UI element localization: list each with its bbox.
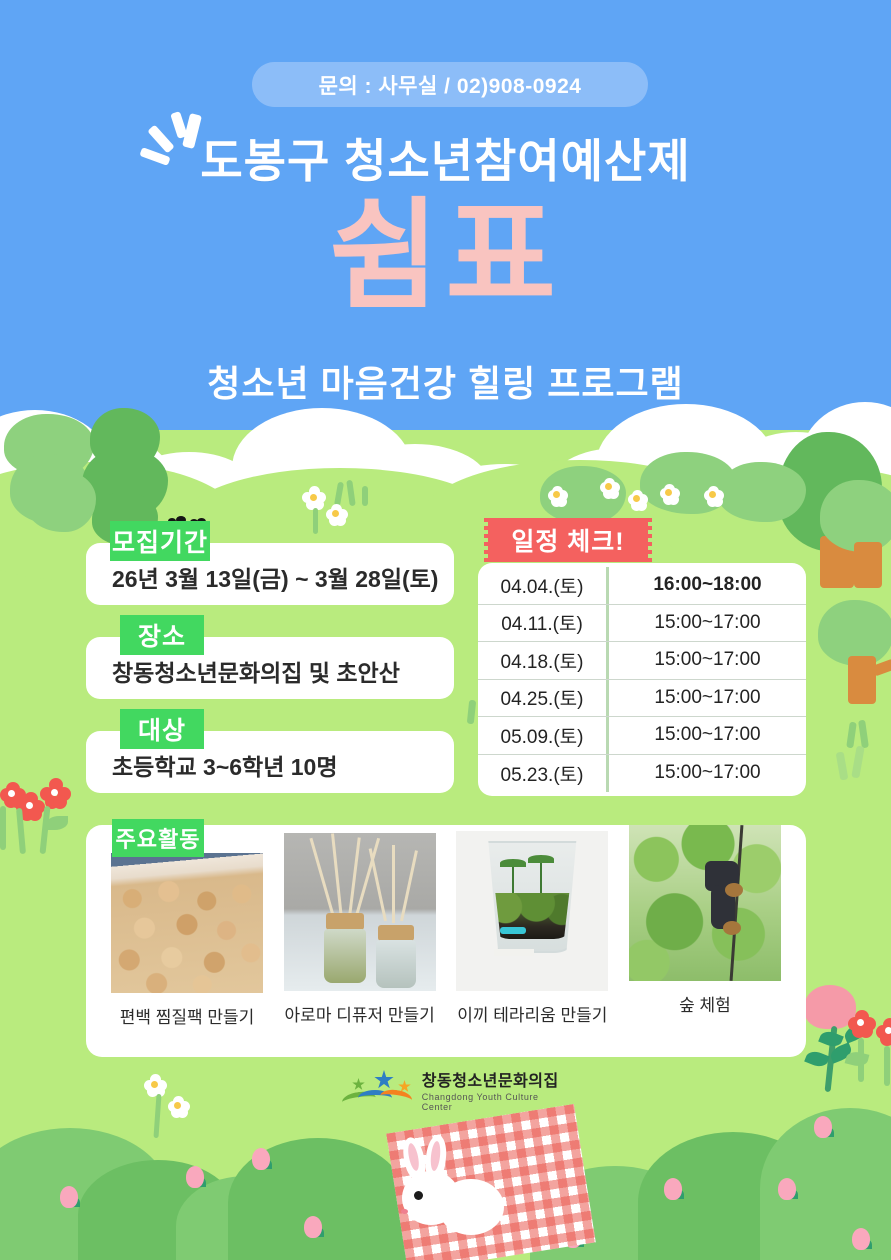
poster-root: 문의 : 사무실 / 02)908-0924 도봉구 청소년참여예산제 쉼표 청… — [0, 0, 891, 1260]
info-value: 창동청소년문화의집 및 초안산 — [112, 654, 400, 688]
table-row: 04.11.(토) 15:00~17:00 — [478, 605, 806, 643]
schedule-time: 15:00~17:00 — [609, 642, 806, 679]
rabbit-illustration — [392, 1135, 502, 1235]
pink-blossom — [186, 1166, 204, 1188]
grass-blade — [362, 486, 368, 506]
activities-badge: 주요활동 — [112, 819, 204, 857]
daisy-flower — [660, 484, 680, 504]
page-subtitle: 청소년 마음건강 힐링 프로그램 — [0, 355, 891, 407]
pink-blossom — [852, 1228, 870, 1250]
schedule-date: 04.04.(토) — [478, 567, 609, 604]
forest-rope-climb-photo — [629, 825, 781, 981]
logo-name-ko: 창동청소년문화의집 — [422, 1067, 568, 1091]
flower-stem — [0, 806, 6, 850]
program-name-title: 쉼표 — [0, 190, 891, 322]
flower-stem — [884, 1046, 890, 1086]
schedule-date: 04.18.(토) — [478, 642, 609, 679]
schedule-date: 05.23.(토) — [478, 755, 609, 793]
activity-item: 아로마 디퓨저 만들기 — [281, 825, 439, 1057]
moss-terrarium-photo — [456, 831, 608, 991]
daisy-flower — [168, 1096, 190, 1118]
tree — [820, 480, 891, 600]
schedule-date: 05.09.(토) — [478, 717, 609, 754]
table-row: 04.18.(토) 15:00~17:00 — [478, 642, 806, 680]
info-label-target: 대상 — [120, 709, 204, 749]
table-row: 04.04.(토) 16:00~18:00 — [478, 567, 806, 605]
pink-blossom — [304, 1216, 322, 1238]
activity-item: 편백 찜질팩 만들기 — [108, 825, 266, 1057]
aroma-diffuser-photo — [284, 833, 436, 991]
daisy-flower — [326, 504, 348, 526]
organization-logo: 창동청소년문화의집 Changdong Youth Culture Center — [340, 1069, 568, 1109]
schedule-time: 15:00~17:00 — [609, 755, 806, 793]
pink-blossom — [60, 1186, 78, 1208]
activities-grid: 편백 찜질팩 만들기 아로마 디퓨저 만들기 — [86, 825, 806, 1057]
schedule-badge: 일정 체크! — [488, 518, 648, 562]
red-flower — [0, 782, 26, 808]
page-title: 도봉구 청소년참여예산제 — [0, 125, 891, 191]
schedule-time: 15:00~17:00 — [609, 605, 806, 642]
flower-stem — [313, 508, 318, 534]
info-value: 초등학교 3~6학년 10명 — [112, 748, 338, 782]
table-row: 05.23.(토) 15:00~17:00 — [478, 755, 806, 793]
daisy-flower — [548, 486, 568, 506]
activity-item: 이끼 테라리움 만들기 — [453, 825, 611, 1057]
info-label-recruitment-period: 모집기간 — [110, 521, 210, 561]
logo-text: 창동청소년문화의집 Changdong Youth Culture Center — [422, 1067, 568, 1112]
logo-name-en: Changdong Youth Culture Center — [422, 1092, 568, 1112]
tree — [818, 600, 891, 710]
tree — [26, 470, 96, 550]
pink-blossom — [814, 1116, 832, 1138]
daisy-flower — [628, 490, 648, 510]
info-value: 26년 3월 13일(금) ~ 3월 28일(토) — [112, 560, 438, 594]
info-label-location: 장소 — [120, 615, 204, 655]
red-flower — [876, 1018, 891, 1046]
activities-card: 편백 찜질팩 만들기 아로마 디퓨저 만들기 — [86, 825, 806, 1057]
hinoki-wood-cubes-photo — [111, 853, 263, 993]
schedule-table: 04.04.(토) 16:00~18:00 04.11.(토) 15:00~17… — [478, 563, 806, 796]
daisy-flower — [704, 486, 724, 506]
logo-mark-icon — [340, 1070, 416, 1108]
pink-blossom — [252, 1148, 270, 1170]
red-flower — [848, 1010, 876, 1038]
daisy-flower — [600, 478, 620, 498]
schedule-time: 16:00~18:00 — [609, 567, 806, 604]
schedule-time: 15:00~17:00 — [609, 680, 806, 717]
schedule-date: 04.11.(토) — [478, 605, 609, 642]
activity-caption: 편백 찜질팩 만들기 — [120, 1003, 255, 1028]
table-row: 05.09.(토) 15:00~17:00 — [478, 717, 806, 755]
activity-caption: 숲 체험 — [679, 991, 731, 1016]
activity-item: 숲 체험 — [626, 825, 784, 1057]
schedule-date: 04.25.(토) — [478, 680, 609, 717]
activity-caption: 이끼 테라리움 만들기 — [457, 1001, 607, 1026]
pink-blossom — [778, 1178, 796, 1200]
table-row: 04.25.(토) 15:00~17:00 — [478, 680, 806, 718]
activity-caption: 아로마 디퓨저 만들기 — [285, 1001, 435, 1026]
contact-pill: 문의 : 사무실 / 02)908-0924 — [252, 62, 648, 107]
pink-blossom — [664, 1178, 682, 1200]
tree — [718, 462, 806, 538]
schedule-time: 15:00~17:00 — [609, 717, 806, 754]
